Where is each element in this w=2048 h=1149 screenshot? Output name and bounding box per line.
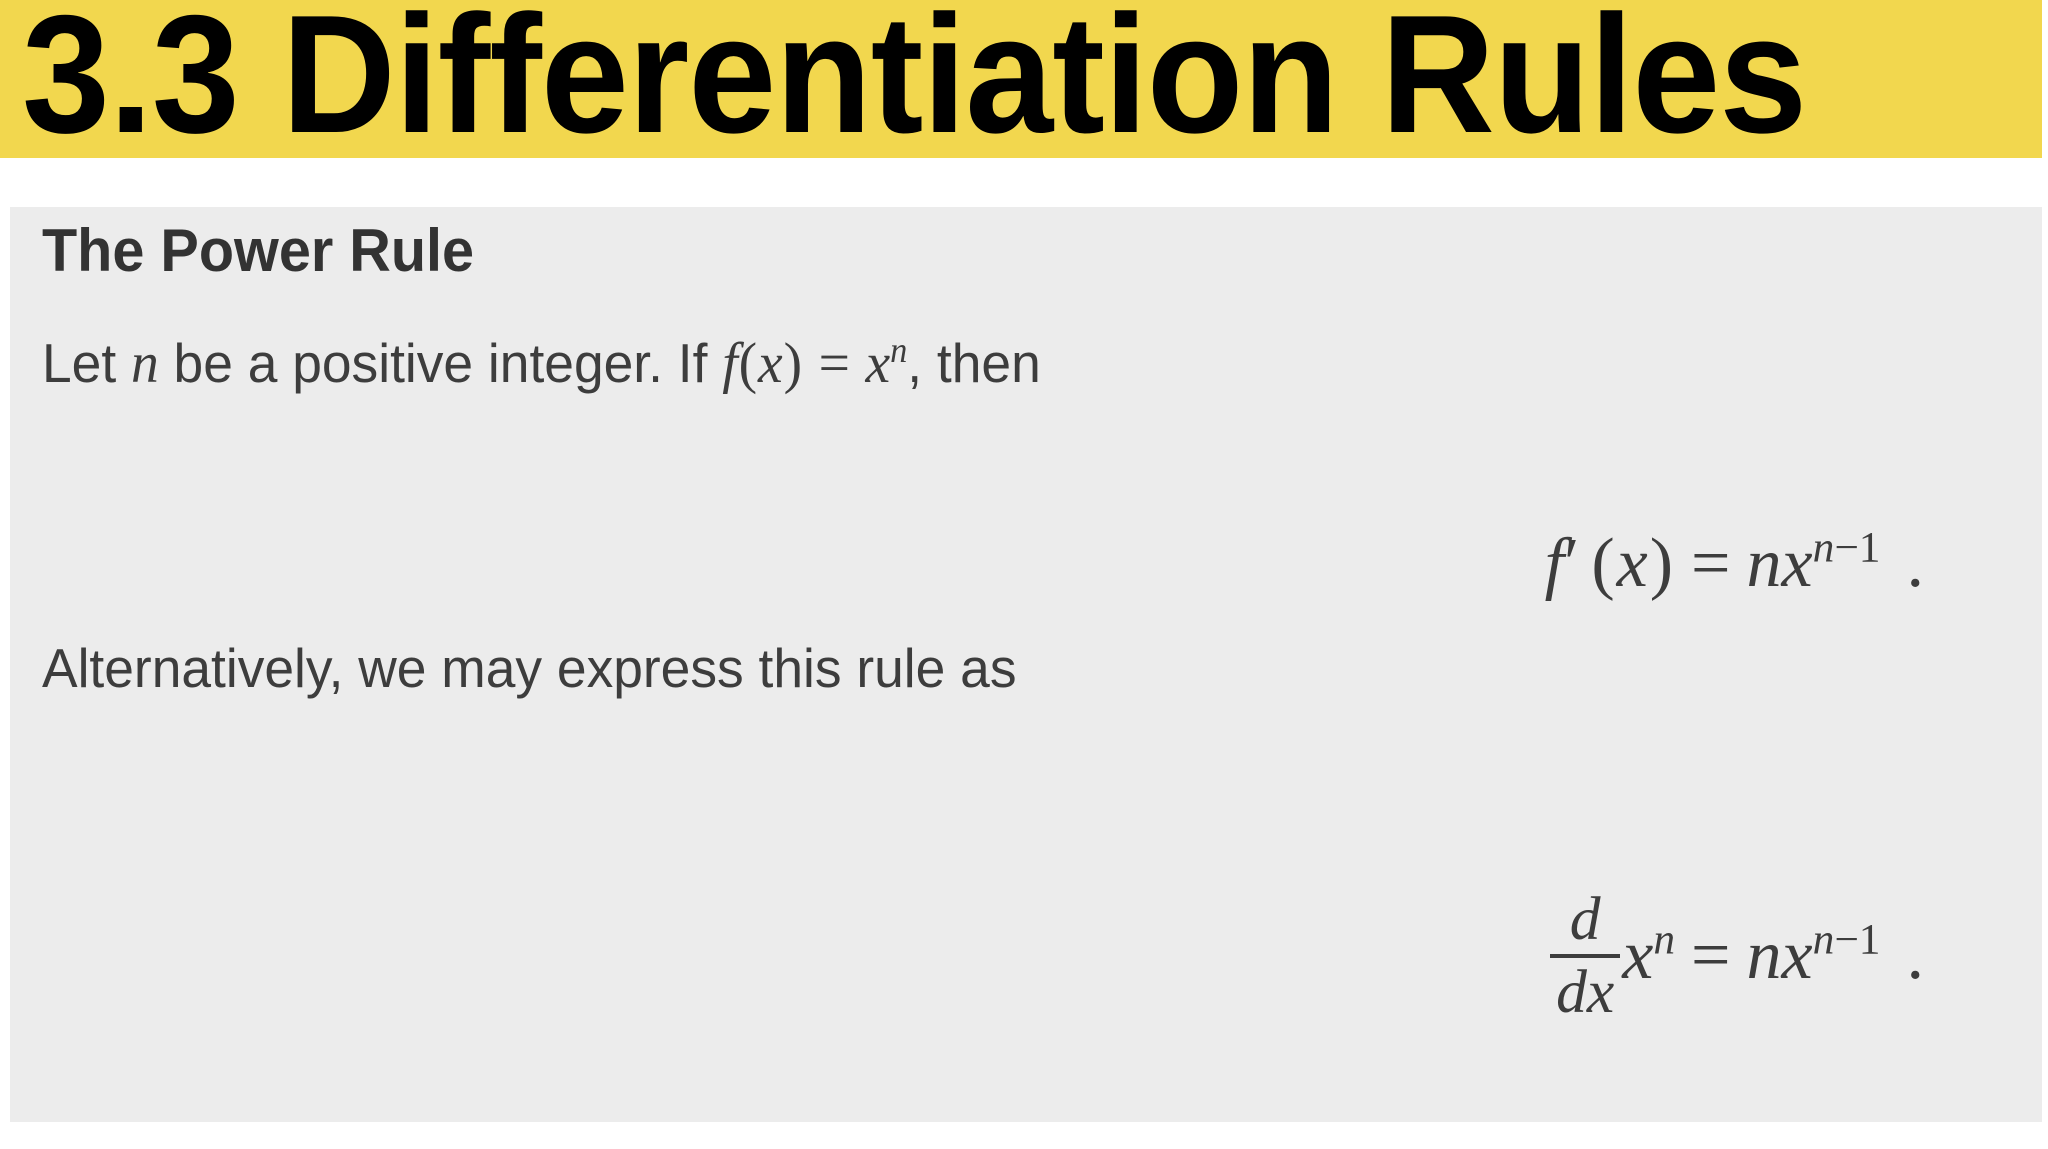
- eq2-exponent: n−1: [1813, 915, 1881, 963]
- statement-base: x: [865, 332, 890, 395]
- statement-inline-equation: f(x)=xn: [722, 332, 907, 395]
- eq2-fraction-numerator: d: [1564, 887, 1607, 954]
- equation-derivative-leibniz-form: d dx xn=nxn−1.: [1550, 882, 1924, 1024]
- eq2-exponent-one: 1: [1859, 915, 1881, 963]
- statement-exponent: n: [890, 330, 907, 370]
- statement-close-paren: ): [783, 332, 803, 395]
- eq1-rhs: nxn−1: [1747, 529, 1881, 599]
- statement-equals-sign: =: [803, 332, 865, 395]
- eq1-exponent-one: 1: [1859, 524, 1881, 572]
- equation-derivative-prime-form: f′(x)=nxn−1.: [1545, 529, 1924, 599]
- eq1-function-name: f: [1545, 525, 1564, 602]
- alternative-statement-line: Alternatively, we may express this rule …: [42, 635, 1017, 701]
- eq1-open-paren: (: [1579, 525, 1616, 602]
- eq1-argument: x: [1617, 525, 1648, 602]
- eq2-base: x: [1782, 917, 1813, 994]
- eq1-lhs: f′(x): [1545, 529, 1675, 599]
- eq2-exponent-minus: −: [1834, 915, 1858, 963]
- eq2-operand: xn: [1622, 921, 1675, 991]
- statement-text-after: , then: [907, 332, 1040, 394]
- eq2-exponent-variable: n: [1813, 915, 1835, 963]
- eq2-operand-base: x: [1622, 917, 1653, 994]
- section-title: 3.3 Differentiation Rules: [22, 0, 1806, 158]
- power-rule-panel: The Power Rule Let n be a positive integ…: [10, 207, 2042, 1122]
- statement-open-paren: (: [738, 332, 758, 395]
- eq2-rhs: nxn−1: [1747, 921, 1881, 991]
- eq1-coefficient: n: [1747, 525, 1782, 602]
- eq1-exponent: n−1: [1813, 524, 1881, 572]
- eq1-prime-symbol: ′: [1564, 525, 1579, 602]
- statement-argument: x: [758, 332, 783, 395]
- eq1-close-paren: ): [1648, 525, 1675, 602]
- eq1-equals-sign: =: [1675, 529, 1746, 599]
- eq1-exponent-minus: −: [1834, 524, 1858, 572]
- eq2-coefficient: n: [1747, 917, 1782, 994]
- rule-heading: The Power Rule: [42, 215, 474, 287]
- eq2-fraction-denominator: dx: [1550, 958, 1620, 1025]
- statement-text-middle: be a positive integer. If: [159, 332, 722, 394]
- eq1-terminator: .: [1881, 529, 1925, 599]
- statement-text-before: Let: [42, 332, 131, 394]
- rule-statement-line: Let n be a positive integer. If f(x)=xn,…: [42, 330, 1041, 397]
- statement-variable-n: n: [131, 332, 159, 395]
- eq2-derivative-fraction: d dx: [1550, 887, 1620, 1024]
- section-banner: 3.3 Differentiation Rules: [0, 0, 2042, 158]
- eq1-base: x: [1782, 525, 1813, 602]
- eq2-terminator: .: [1881, 921, 1925, 991]
- eq2-equals-sign: =: [1675, 921, 1746, 991]
- eq2-operand-exponent: n: [1653, 915, 1675, 963]
- statement-function-name: f: [722, 332, 737, 395]
- eq1-exponent-variable: n: [1813, 524, 1835, 572]
